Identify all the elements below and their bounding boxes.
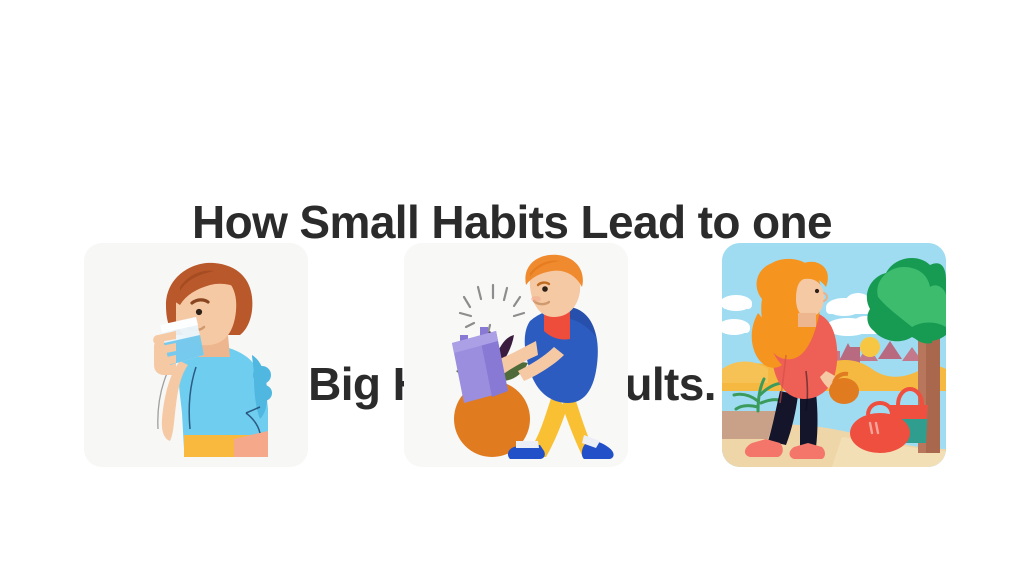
illustration-card-groceries[interactable] — [404, 243, 628, 467]
woman-walking-outdoors-icon — [722, 243, 946, 467]
illustration-card-hydration[interactable] — [84, 243, 308, 467]
illustration-card-row — [84, 243, 940, 469]
page-title-line-1: How Small Habits Lead to one — [0, 195, 1024, 249]
illustration-card-walking-outdoors[interactable] — [722, 243, 946, 467]
man-carrying-shopping-bag-icon — [404, 243, 628, 467]
man-drinking-water-icon — [84, 243, 308, 467]
slide-canvas: How Small Habits Lead to one Big Health … — [0, 0, 1024, 573]
